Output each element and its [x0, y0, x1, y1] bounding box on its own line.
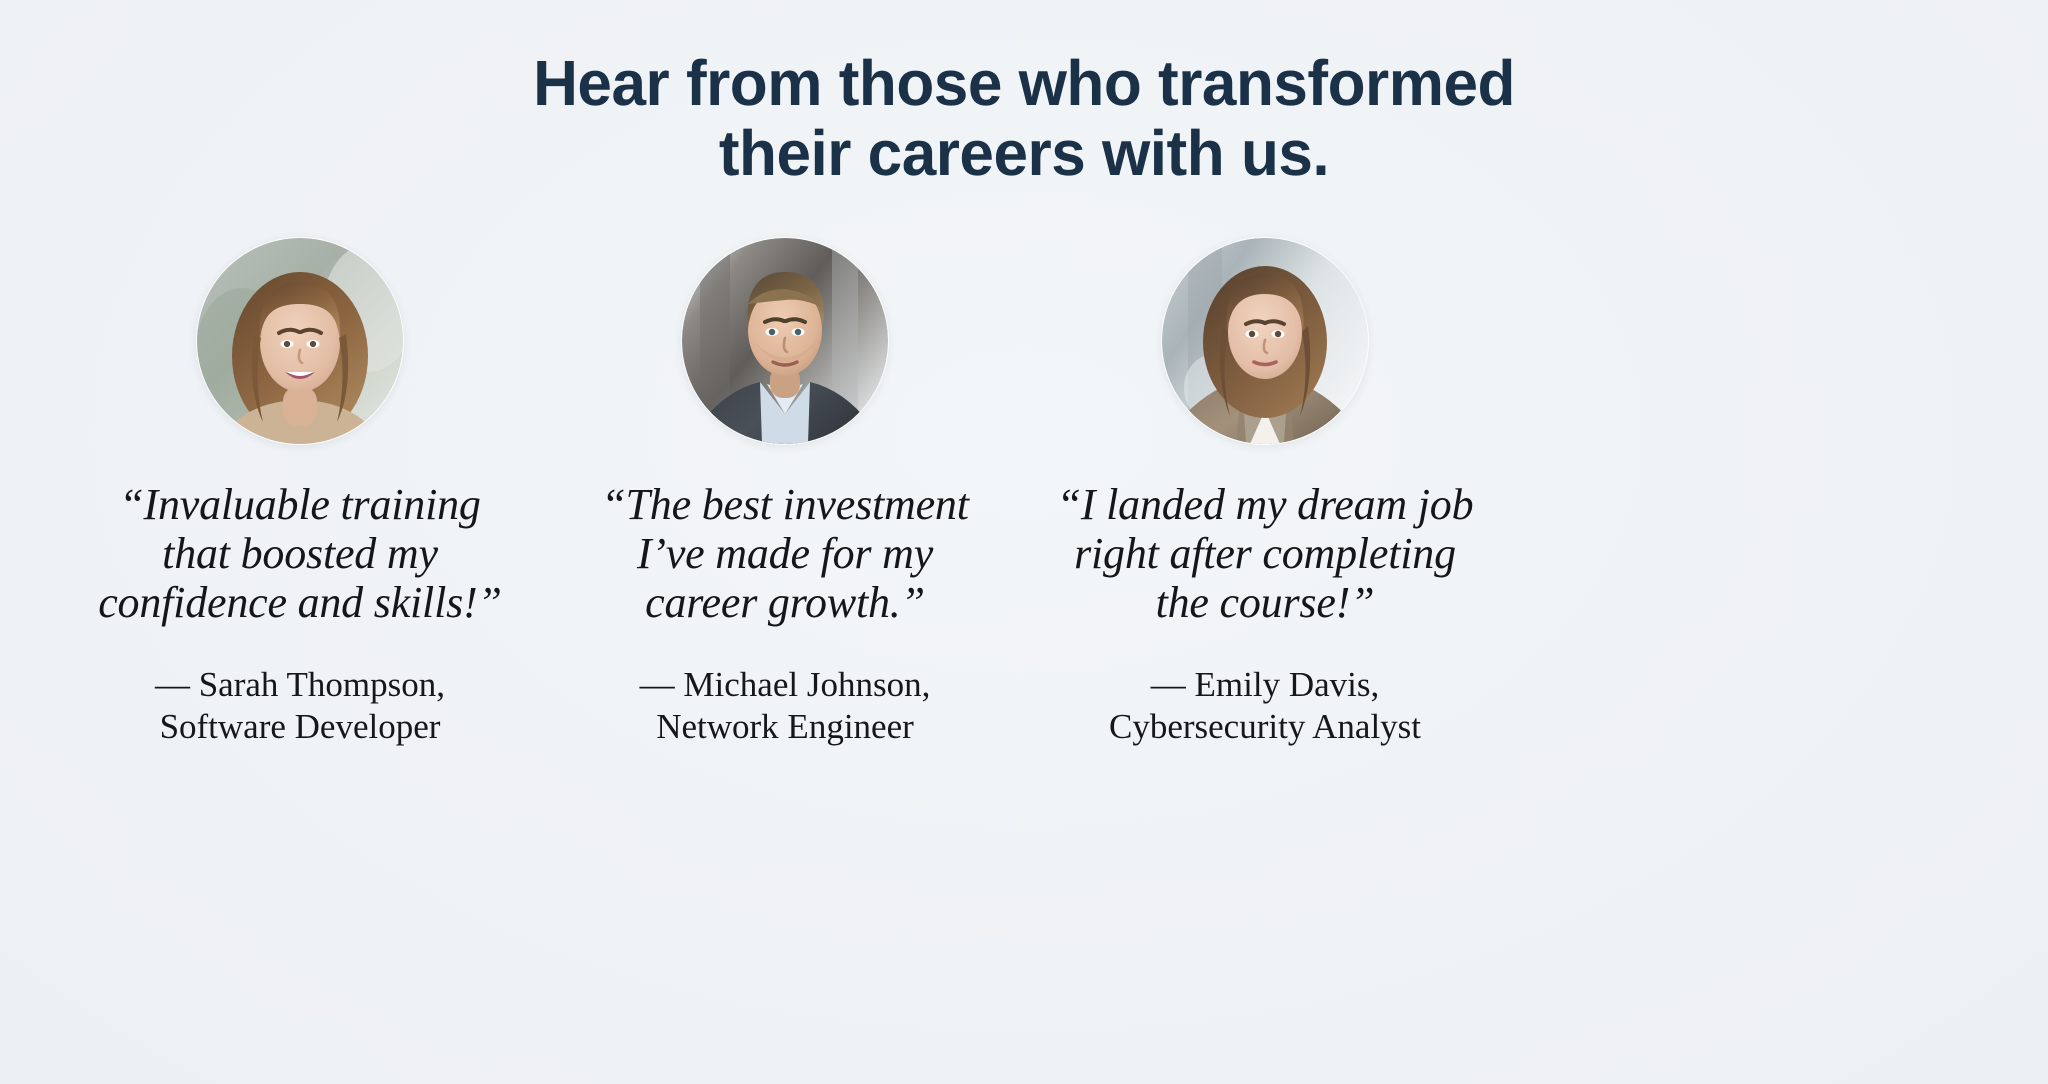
testimonial-quote: “The best investment I’ve made for my ca… — [550, 480, 1020, 627]
quote-line-3: the course!” — [1030, 578, 1500, 627]
quote-line-1: “Invaluable training — [65, 480, 535, 529]
testimonial-slide: Hear from those who transformed their ca… — [0, 0, 2048, 1084]
quote-line-1: “The best investment — [550, 480, 1020, 529]
testimonial-list: “Invaluable training that boosted my con… — [60, 238, 1988, 748]
avatar — [682, 238, 888, 444]
page-title-line-1: Hear from those who transformed — [31, 48, 2018, 118]
testimonial-card: “Invaluable training that boosted my con… — [60, 238, 540, 748]
page-title-line-2: their careers with us. — [31, 118, 2018, 188]
quote-line-1: “I landed my dream job — [1030, 480, 1500, 529]
quote-line-3: confidence and skills!” — [65, 578, 535, 627]
quote-line-2: I’ve made for my — [550, 529, 1020, 578]
testimonial-card: “I landed my dream job right after compl… — [1025, 238, 1505, 748]
testimonial-quote: “Invaluable training that boosted my con… — [65, 480, 535, 627]
attribution-name: — Sarah Thompson, — [65, 664, 535, 706]
attribution-name: — Michael Johnson, — [550, 664, 1020, 706]
avatar — [197, 238, 403, 444]
quote-line-2: that boosted my — [65, 529, 535, 578]
quote-line-2: right after completing — [1030, 529, 1500, 578]
testimonial-quote: “I landed my dream job right after compl… — [1030, 480, 1500, 627]
attribution-role: Software Developer — [65, 706, 535, 748]
testimonial-attribution: — Michael Johnson, Network Engineer — [550, 664, 1020, 748]
testimonial-attribution: — Emily Davis, Cybersecurity Analyst — [1030, 664, 1500, 748]
testimonial-attribution: — Sarah Thompson, Software Developer — [65, 664, 535, 748]
page-title: Hear from those who transformed their ca… — [31, 48, 2018, 188]
avatar — [1162, 238, 1368, 444]
attribution-name: — Emily Davis, — [1030, 664, 1500, 706]
attribution-role: Network Engineer — [550, 706, 1020, 748]
attribution-role: Cybersecurity Analyst — [1030, 706, 1500, 748]
quote-line-3: career growth.” — [550, 578, 1020, 627]
testimonial-card: “The best investment I’ve made for my ca… — [545, 238, 1025, 748]
